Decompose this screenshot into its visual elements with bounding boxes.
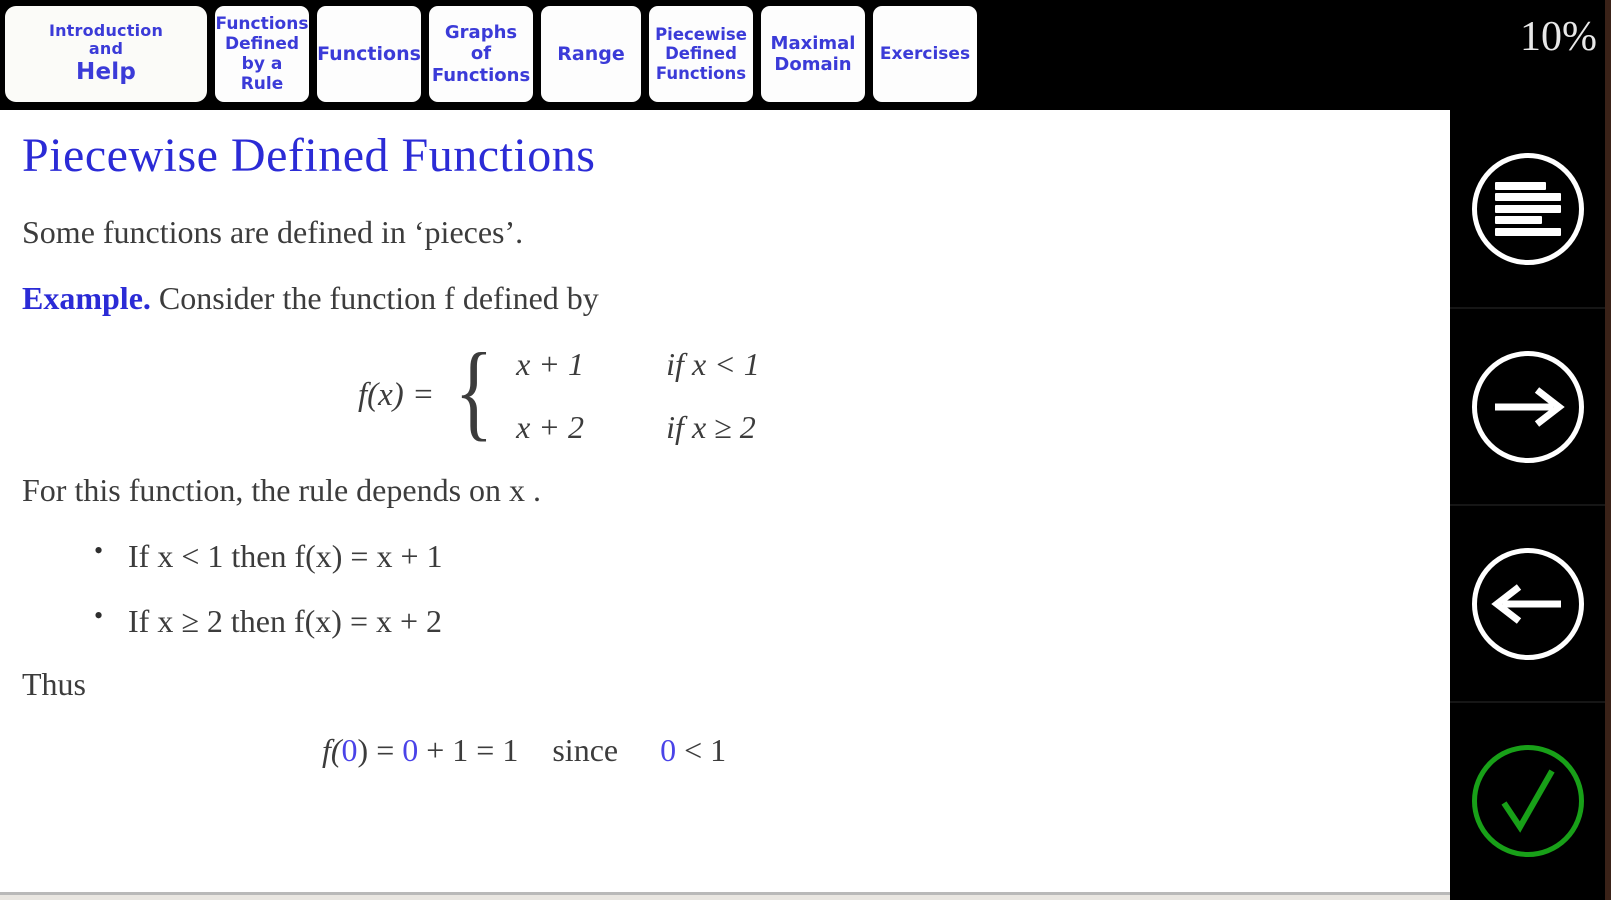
eval-condition-value: 0 [660, 732, 676, 768]
thus-label: Thus [22, 666, 1424, 704]
case-condition: if x < 1 [666, 346, 760, 383]
tab-line: Piecewise [655, 25, 747, 44]
page-title: Piecewise Defined Functions [22, 132, 1424, 180]
rule-intro-paragraph: For this function, the rule depends on x… [22, 472, 1424, 510]
tab-line: Rule [241, 74, 284, 94]
check-mark-icon [1492, 765, 1564, 837]
tab-range[interactable]: Range [541, 6, 641, 102]
sidebar-toolbar [1450, 110, 1605, 900]
tab-line: Help [76, 59, 136, 86]
document-page: Piecewise Defined Functions Some functio… [0, 110, 1450, 892]
contents-lines-icon [1495, 182, 1561, 236]
tab-introduction-and-help[interactable]: Introduction and Help [5, 6, 207, 102]
tab-line: Functions [656, 64, 746, 83]
list-item: If x ≥ 2 then f(x) = x + 2 [22, 602, 1424, 640]
arrow-right-icon [1491, 382, 1565, 432]
example-text: Consider the function f defined by [159, 280, 599, 316]
example-paragraph: Example. Consider the function f defined… [22, 280, 1424, 318]
tab-line: Maximal [771, 33, 856, 54]
tab-exercises[interactable]: Exercises [873, 6, 977, 102]
tab-line: Introduction [49, 22, 163, 41]
sidebar-item-back[interactable] [1450, 504, 1605, 701]
document-body: Piecewise Defined Functions Some functio… [0, 110, 1450, 769]
rules-list: If x < 1 then f(x) = x + 1 If x ≥ 2 then… [22, 537, 1424, 640]
tab-bar: Introduction and Help Functions Defined … [0, 0, 1611, 110]
tab-piecewise-defined-functions[interactable]: Piecewise Defined Functions [649, 6, 753, 102]
equation-lhs: f(x) = [358, 377, 434, 414]
tab-line: of [471, 43, 491, 64]
tab-line: by a [242, 54, 283, 74]
list-item: If x < 1 then f(x) = x + 1 [22, 537, 1424, 575]
intro-paragraph: Some functions are defined in ‘pieces’. [22, 214, 1424, 252]
tab-functions[interactable]: Functions [317, 6, 421, 102]
window-edge-strip [1605, 0, 1611, 900]
zoom-level-indicator: 10% [1520, 16, 1597, 58]
case-row: x + 2 if x ≥ 2 [516, 409, 760, 446]
case-expression: x + 1 [516, 346, 666, 383]
equation-cases: x + 1 if x < 1 x + 2 if x ≥ 2 [516, 346, 760, 446]
arrow-left-icon [1491, 579, 1565, 629]
tab-line: Functions [432, 65, 530, 86]
application-window: Introduction and Help Functions Defined … [0, 0, 1611, 900]
sidebar-item-contents[interactable] [1450, 110, 1605, 307]
forward-button[interactable] [1472, 351, 1584, 463]
evaluation-equation: f(0) = 0 + 1 = 1 since 0 < 1 [22, 732, 1424, 769]
back-button[interactable] [1472, 548, 1584, 660]
eval-f-open: f( [322, 732, 342, 768]
case-expression: x + 2 [516, 409, 666, 446]
tab-line: and [89, 40, 123, 59]
case-condition: if x ≥ 2 [666, 409, 756, 446]
eval-value: 0 [402, 732, 418, 768]
tab-line: Domain [774, 54, 851, 75]
sidebar-item-check[interactable] [1450, 701, 1605, 898]
eval-f-close: ) = [358, 732, 395, 768]
example-label: Example. [22, 280, 151, 316]
contents-button[interactable] [1472, 153, 1584, 265]
tab-functions-defined-by-a-rule[interactable]: Functions Defined by a Rule [215, 6, 309, 102]
tab-line: Exercises [880, 44, 970, 64]
piecewise-equation: f(x) = { x + 1 if x < 1 x + 2 if x ≥ 2 [22, 346, 1424, 446]
eval-rest: + 1 = 1 [426, 732, 518, 768]
sidebar-item-forward[interactable] [1450, 307, 1605, 504]
tab-graphs-of-functions[interactable]: Graphs of Functions [429, 6, 533, 102]
eval-condition-rest: < 1 [684, 732, 726, 768]
check-button[interactable] [1472, 745, 1584, 857]
tab-line: Defined [225, 34, 299, 54]
case-row: x + 1 if x < 1 [516, 346, 760, 383]
left-brace: { [455, 350, 494, 434]
tab-line: Defined [665, 44, 737, 63]
tab-line: Range [557, 43, 624, 65]
page-bottom-fill [0, 895, 1450, 900]
tab-maximal-domain[interactable]: Maximal Domain [761, 6, 865, 102]
tab-line: Graphs [445, 22, 517, 43]
tab-line: Functions [317, 43, 421, 65]
tab-line: Functions [216, 14, 309, 34]
eval-argument: 0 [342, 732, 358, 768]
eval-since-label: since [552, 732, 618, 768]
